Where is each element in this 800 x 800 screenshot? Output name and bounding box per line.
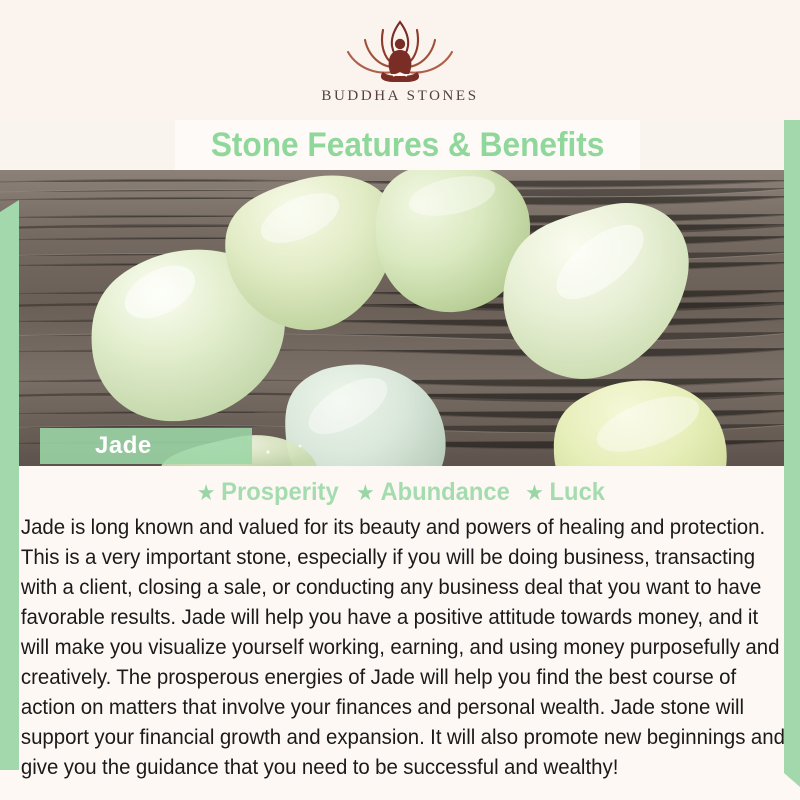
- description-section: ★ Prosperity ★ Abundance ★ Luck Jade is …: [0, 466, 800, 800]
- stone-name-tag: Jade: [40, 428, 252, 464]
- brand-name: BUDDHA STONES: [321, 88, 478, 105]
- star-icon: ★: [525, 482, 544, 504]
- stone-photo: [0, 170, 800, 466]
- benefit-luck: ★ Luck: [525, 478, 605, 507]
- jade-stones-illustration: [0, 170, 800, 466]
- benefit-abundance: ★ Abundance: [356, 478, 510, 507]
- benefit-prosperity: ★ Prosperity: [197, 478, 339, 507]
- star-icon: ★: [356, 482, 375, 504]
- stone-description-text: Jade is long known and valued for its be…: [18, 510, 786, 782]
- right-green-accent-bar: [784, 97, 800, 787]
- star-icon: ★: [197, 482, 216, 504]
- brand-header: BUDDHA STONES: [0, 0, 800, 120]
- lotus-meditation-icon: [337, 16, 463, 86]
- page-title: Stone Features & Benefits: [211, 126, 605, 165]
- left-green-accent-bar: [0, 200, 19, 770]
- stone-name-label: Jade: [40, 432, 152, 460]
- benefits-row: ★ Prosperity ★ Abundance ★ Luck: [18, 466, 782, 510]
- infographic-page: BUDDHA STONES Stone Features & Benefits: [0, 0, 800, 800]
- benefit-label: Abundance: [380, 478, 509, 507]
- benefit-label: Prosperity: [221, 478, 338, 507]
- page-title-banner: Stone Features & Benefits: [175, 120, 640, 170]
- benefit-label: Luck: [549, 478, 604, 507]
